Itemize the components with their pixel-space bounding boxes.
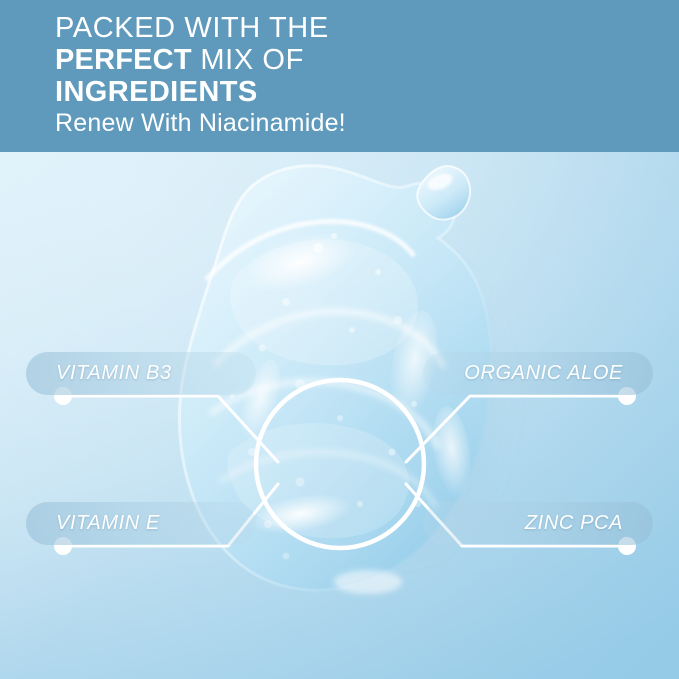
gel-highlight-6 — [334, 570, 402, 594]
header-band: PACKED WITH THE PERFECT MIX OF INGREDIEN… — [0, 0, 679, 152]
callout-label-vitamin-e-text: VITAMIN E — [56, 512, 160, 535]
headline-tagline: Renew With Niacinamide! — [55, 111, 615, 136]
gel-swatch-illustration — [0, 152, 679, 679]
callout-label-vitamin-b3-text: VITAMIN B3 — [56, 362, 172, 385]
product-scene — [0, 152, 679, 679]
callout-label-zinc-pca[interactable]: ZINC PCA — [423, 502, 653, 545]
callout-label-organic-aloe-text: ORGANIC ALOE — [464, 362, 623, 385]
headline-perfect: PERFECT — [55, 44, 192, 76]
callout-label-zinc-pca-text: ZINC PCA — [525, 512, 623, 535]
headline-line-2: PERFECT MIX OF — [55, 46, 615, 75]
callout-label-vitamin-e[interactable]: VITAMIN E — [26, 502, 256, 545]
headline-block: PACKED WITH THE PERFECT MIX OF INGREDIEN… — [55, 14, 615, 136]
headline-mix-of: MIX OF — [192, 44, 304, 76]
headline-line-3: INGREDIENTS — [55, 78, 615, 107]
callout-label-organic-aloe[interactable]: ORGANIC ALOE — [423, 352, 653, 395]
infographic-canvas: PACKED WITH THE PERFECT MIX OF INGREDIEN… — [0, 0, 679, 679]
callout-label-vitamin-b3[interactable]: VITAMIN B3 — [26, 352, 256, 395]
headline-line-1: PACKED WITH THE — [55, 14, 615, 43]
